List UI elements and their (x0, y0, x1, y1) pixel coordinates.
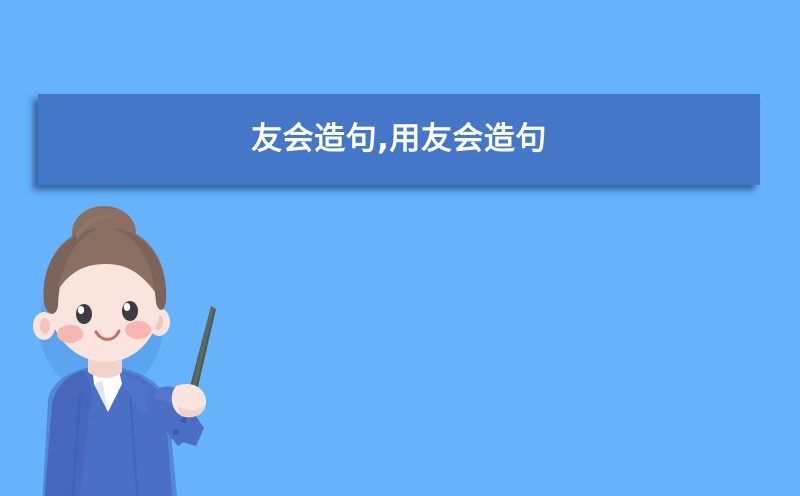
cuff-button-upper (181, 417, 187, 423)
teacher-illustration-svg (18, 206, 258, 496)
left-blush (57, 325, 83, 343)
left-eye (76, 304, 92, 324)
page-root: 友会造句,用友会造句 (0, 0, 800, 496)
teacher-illustration (18, 206, 258, 496)
title-banner: 友会造句,用友会造句 (38, 94, 760, 185)
hand (172, 384, 206, 417)
cuff-button-lower (173, 429, 179, 435)
page-title: 友会造句,用友会造句 (251, 124, 547, 155)
right-eye (122, 301, 138, 321)
right-blush (125, 321, 151, 339)
